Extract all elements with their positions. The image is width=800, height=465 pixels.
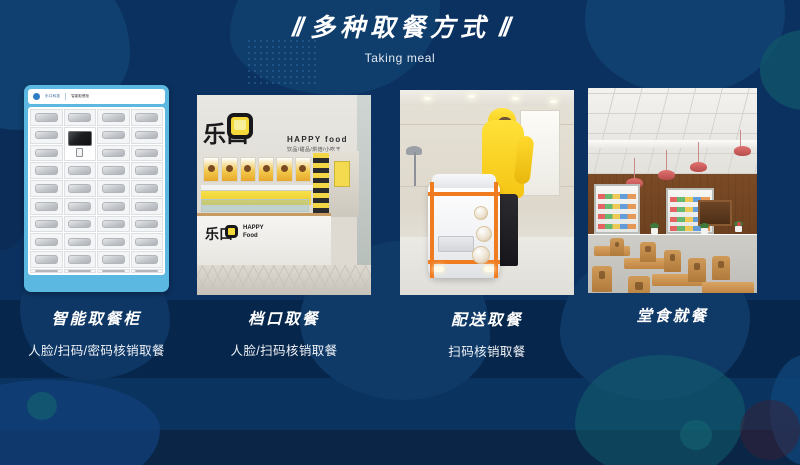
counter-logo-english-line2: Food	[243, 233, 258, 239]
locker-cell	[97, 145, 130, 162]
locker-door	[102, 131, 125, 140]
pendant-lamp-icon	[734, 146, 751, 156]
locker-door	[135, 131, 158, 140]
potted-flower-icon	[734, 221, 743, 232]
card-title: 配送取餐	[400, 308, 574, 330]
locker-door	[135, 220, 158, 229]
locker-cell	[131, 251, 164, 268]
ceiling-light-icon	[468, 95, 475, 98]
storefront-service-counter: 乐口 HAPPY Food	[197, 213, 331, 267]
robot-headlight-icon	[484, 266, 494, 272]
locker-screen-icon	[68, 131, 92, 145]
locker-door	[68, 184, 91, 193]
menu-board	[240, 157, 256, 182]
locker-door	[35, 202, 58, 211]
plant-pot	[651, 228, 658, 234]
storefront-brand-english: HAPPY food	[287, 135, 348, 144]
locker-cell	[30, 109, 63, 126]
caption-dine-in: 堂食就餐	[588, 304, 757, 337]
locker-cell	[30, 216, 63, 233]
title-row: // 多种取餐方式 //	[0, 14, 800, 42]
slide-canvas: // 多种取餐方式 // Taking meal 乐口科技 智能取餐柜	[0, 0, 800, 465]
card-title: 档口取餐	[197, 307, 371, 329]
storefront-poster	[334, 161, 350, 187]
robot-sticker-icon	[474, 206, 488, 220]
robot-lid	[432, 174, 496, 188]
robot-orange-stripe-vertical	[494, 182, 498, 278]
menu-board	[203, 157, 219, 182]
locker-door	[135, 255, 158, 264]
locker-cell	[97, 127, 130, 144]
locker-cell	[97, 180, 130, 197]
locker-cell	[30, 198, 63, 215]
dining-table	[702, 282, 754, 293]
storefront-logo-mark-icon	[227, 113, 253, 139]
card-subtitle: 扫码核销取餐	[400, 341, 574, 360]
decor-circle-teal-small-right	[680, 420, 712, 450]
photo-dine-in-area	[588, 88, 757, 293]
robot-antenna-pole	[414, 152, 416, 186]
dining-chair	[688, 258, 706, 282]
locker-door	[68, 255, 91, 264]
locker-cell	[131, 269, 164, 273]
locker-cell	[30, 233, 63, 250]
page-subtitle: Taking meal	[0, 51, 800, 65]
locker-door	[35, 166, 58, 175]
locker-cell	[131, 162, 164, 179]
locker-door	[102, 113, 125, 122]
locker-cell	[131, 180, 164, 197]
locker-brand-logo-icon	[33, 93, 40, 100]
locker-door	[35, 238, 58, 247]
locker-door	[102, 149, 125, 158]
pendant-lamp-cord	[634, 158, 635, 180]
card-counter-pickup[interactable]: 乐口 HAPPY food 饮品/甜品/烘焙/小吃王 乐口	[197, 95, 371, 295]
locker-cell	[97, 233, 130, 250]
locker-door	[102, 166, 125, 175]
menu-drink-icon	[299, 165, 306, 172]
locker-door	[68, 220, 91, 229]
locker-door	[102, 238, 125, 247]
storefront-tiled-floor	[197, 265, 371, 295]
locker-door	[135, 202, 158, 211]
storefront-menu-board-strip	[203, 157, 311, 182]
locker-header-bar: 乐口科技 智能取餐柜	[28, 89, 165, 104]
locker-header-divider	[65, 93, 66, 100]
locker-door	[135, 166, 158, 175]
locker-touchscreen-panel[interactable]	[64, 127, 97, 162]
fridge-shelf-row	[598, 204, 636, 209]
dining-chair	[610, 238, 624, 256]
locker-door	[35, 255, 58, 264]
menu-board	[221, 157, 237, 182]
robot-orange-stripe-vertical	[430, 182, 434, 278]
slash-left-icon: //	[292, 14, 301, 41]
counter-logo-mark-icon	[225, 225, 238, 238]
dining-chair	[640, 242, 656, 262]
locker-cell	[131, 233, 164, 250]
locker-cell	[97, 251, 130, 268]
decor-circle-teal-small-left	[27, 392, 57, 420]
card-dine-in[interactable]: 堂食就餐	[588, 88, 757, 293]
potted-plant-icon	[700, 223, 709, 234]
robot-headlight-icon	[434, 266, 444, 272]
potted-plant-icon	[650, 223, 659, 234]
locker-cell	[64, 198, 97, 215]
card-title: 堂食就餐	[588, 304, 757, 326]
dining-chair	[628, 276, 650, 293]
locker-cell	[64, 233, 97, 250]
locker-door	[102, 220, 125, 229]
locker-door	[35, 270, 58, 272]
caption-smart-locker: 智能取餐柜 人脸/扫码/密码核销取餐	[24, 307, 169, 359]
counter-logo-english-line1: HAPPY	[243, 225, 264, 231]
storefront-display-glass	[201, 199, 309, 212]
locker-door	[102, 255, 125, 264]
counter-logo-english: HAPPY Food	[243, 225, 264, 241]
page-title: 多种取餐方式	[310, 14, 490, 42]
robot-sticker-icon	[476, 226, 492, 242]
locker-door	[35, 149, 58, 158]
robot-compartment-door	[438, 236, 474, 252]
locker-base	[28, 275, 165, 288]
robot-orange-stripe	[428, 192, 500, 196]
locker-cell	[64, 180, 97, 197]
plant-pot	[735, 226, 742, 232]
locker-cell	[131, 145, 164, 162]
card-subtitle: 人脸/扫码/密码核销取餐	[24, 340, 169, 359]
storefront-logo-inner-icon	[234, 120, 246, 130]
display-fridge	[594, 184, 640, 234]
caption-delivery-pickup: 配送取餐 扫码核销取餐	[400, 308, 574, 360]
menu-board	[276, 157, 292, 182]
dining-chair	[592, 266, 612, 292]
locker-cell	[131, 216, 164, 233]
locker-cell	[30, 180, 63, 197]
card-delivery-pickup[interactable]: 配送取餐 扫码核销取餐	[400, 90, 574, 295]
photo-delivery-robot	[400, 90, 574, 295]
ceiling-light-icon	[550, 100, 557, 103]
locker-cell	[30, 162, 63, 179]
robot-orange-stripe	[428, 260, 500, 264]
ceiling-light-icon	[512, 97, 519, 100]
photo-food-counter-storefront: 乐口 HAPPY food 饮品/甜品/烘焙/小吃王 乐口	[197, 95, 371, 295]
locker-cell	[131, 198, 164, 215]
locker-cell	[97, 269, 130, 273]
locker-brand-text: 乐口科技	[45, 94, 60, 99]
locker-cell	[64, 162, 97, 179]
photo-smart-meal-locker: 乐口科技 智能取餐柜	[24, 85, 169, 292]
menu-drink-icon	[263, 165, 270, 172]
pendant-lamp-icon	[658, 170, 675, 180]
locker-door	[135, 270, 158, 272]
locker-compartment-grid	[28, 107, 165, 275]
delivery-robot-body	[428, 182, 500, 278]
menu-board	[258, 157, 274, 182]
fridge-shelf-row	[598, 224, 636, 229]
locker-cell	[30, 251, 63, 268]
card-subtitle: 人脸/扫码核销取餐	[197, 340, 371, 359]
caption-counter-pickup: 档口取餐 人脸/扫码核销取餐	[197, 307, 371, 359]
locker-door	[68, 113, 91, 122]
dining-ceiling-tiles	[588, 88, 757, 174]
locker-door	[68, 238, 91, 247]
fridge-shelf-row	[598, 194, 636, 199]
storefront-striped-pillar	[313, 153, 329, 215]
locker-cell	[30, 145, 63, 162]
slash-right-icon: //	[499, 14, 508, 41]
locker-cell	[97, 109, 130, 126]
locker-door	[102, 184, 125, 193]
dining-chair	[712, 256, 730, 280]
locker-cell	[30, 269, 63, 273]
locker-door	[35, 131, 58, 140]
menu-drink-icon	[226, 165, 233, 172]
locker-header-label: 智能取餐柜	[71, 94, 89, 99]
fridge-shelf-row	[598, 214, 636, 219]
slide-header: // 多种取餐方式 // Taking meal	[0, 14, 800, 65]
locker-door	[68, 270, 91, 272]
locker-cell	[97, 198, 130, 215]
locker-card-reader-icon	[76, 148, 83, 157]
menu-board	[295, 157, 311, 182]
locker-door	[135, 184, 158, 193]
robot-sticker-icon	[472, 246, 490, 264]
menu-drink-icon	[208, 165, 215, 172]
locker-door	[135, 238, 158, 247]
locker-door	[102, 202, 125, 211]
dining-ceiling-beam	[588, 140, 757, 148]
locker-door	[68, 166, 91, 175]
card-smart-locker[interactable]: 乐口科技 智能取餐柜	[24, 85, 169, 292]
locker-door	[35, 220, 58, 229]
decor-blob-corner-warm	[740, 400, 800, 460]
locker-cell	[64, 251, 97, 268]
dining-chair	[664, 250, 681, 272]
locker-door	[135, 149, 158, 158]
menu-drink-icon	[281, 165, 288, 172]
pendant-lamp-cord	[698, 142, 699, 164]
locker-door	[35, 113, 58, 122]
ceiling-light-icon	[424, 97, 431, 100]
pendant-lamp-cord	[666, 150, 667, 172]
locker-cell	[64, 109, 97, 126]
locker-door	[135, 113, 158, 122]
locker-cell	[131, 109, 164, 126]
locker-door	[68, 202, 91, 211]
menu-drink-icon	[244, 165, 251, 172]
locker-cell	[30, 127, 63, 144]
locker-cell	[131, 127, 164, 144]
card-title: 智能取餐柜	[24, 307, 169, 329]
locker-cell	[64, 269, 97, 273]
pendant-lamp-icon	[690, 162, 707, 172]
locker-cell	[97, 162, 130, 179]
locker-door	[35, 184, 58, 193]
plant-pot	[701, 228, 708, 234]
locker-door	[102, 270, 125, 272]
locker-cell	[64, 216, 97, 233]
locker-cell	[97, 216, 130, 233]
